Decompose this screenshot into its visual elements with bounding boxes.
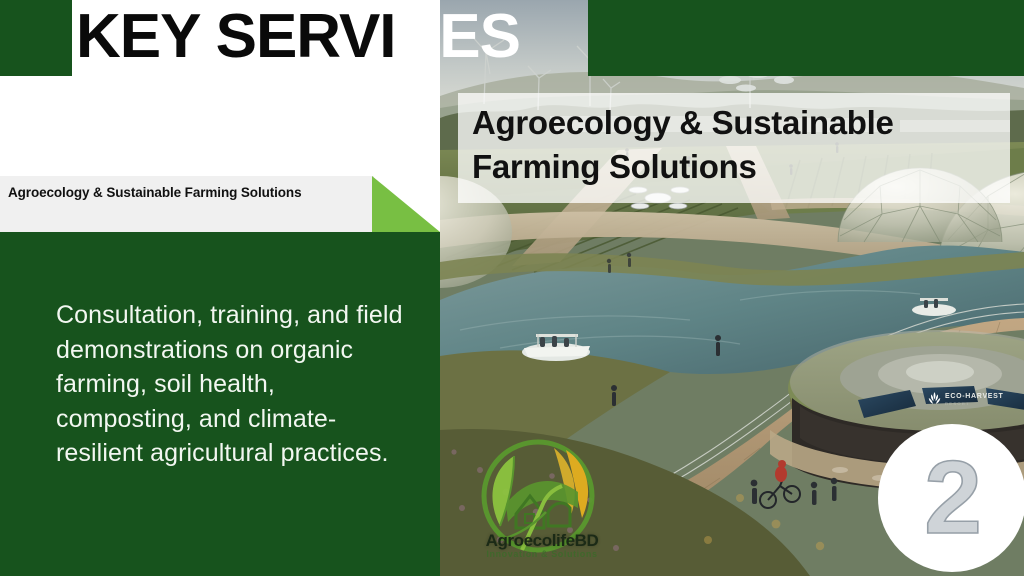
- logo-tagline: Innovation & Solutions: [462, 549, 622, 559]
- page-title: KEY SERVICES: [76, 6, 520, 68]
- overlay-title: Agroecology & Sustainable Farming Soluti…: [472, 101, 1012, 189]
- eco-harvest-resort-sign: ECO-HARVEST RESORT: [928, 392, 1004, 407]
- presentation-slide: ECO-HARVEST RESORT Agroecology & Sustain…: [0, 0, 1024, 576]
- resort-subtitle: RESORT: [945, 401, 1004, 406]
- top-right-green-block: [588, 0, 1024, 76]
- logo-wordmark: AgroecolifeBD: [462, 531, 622, 551]
- kicker-label: Agroecology & Sustainable Farming Soluti…: [8, 183, 348, 203]
- resort-name: ECO-HARVEST: [945, 393, 1004, 401]
- cyclist-body: [775, 460, 787, 482]
- top-left-green-block: [0, 0, 72, 76]
- wheat-sheaf-icon: [928, 392, 941, 407]
- page-title-light-part: CES: [396, 2, 520, 71]
- body-paragraph: Consultation, training, and field demons…: [56, 298, 408, 471]
- page-title-dark-part: KEY SERVI: [76, 2, 396, 71]
- number-badge-value: 2: [878, 424, 1024, 572]
